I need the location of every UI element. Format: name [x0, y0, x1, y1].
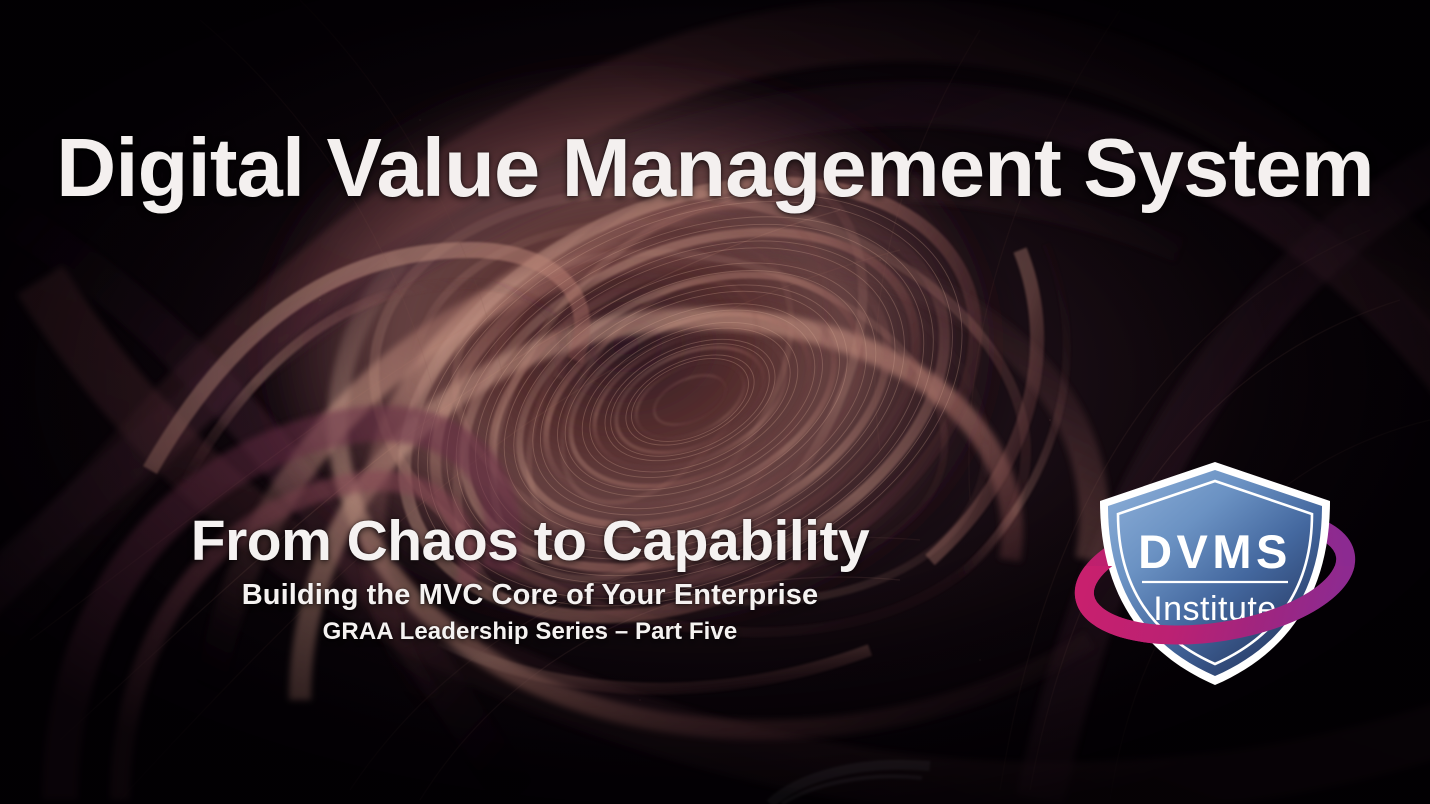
shield-wordmark: DVMS	[1138, 525, 1292, 578]
page-title: Digital Value Management System	[0, 126, 1430, 209]
dvms-institute-logo: DVMS Institute	[1070, 448, 1360, 694]
subtitle-group: From Chaos to Capability Building the MV…	[0, 512, 1060, 645]
subtitle-headline: From Chaos to Capability	[0, 512, 1060, 572]
slide-canvas: Digital Value Management System From Cha…	[0, 0, 1430, 804]
logo-artwork: DVMS Institute	[1070, 448, 1360, 694]
subtitle-series: GRAA Leadership Series – Part Five	[0, 619, 1060, 645]
subtitle-secondary: Building the MVC Core of Your Enterprise	[0, 580, 1060, 612]
